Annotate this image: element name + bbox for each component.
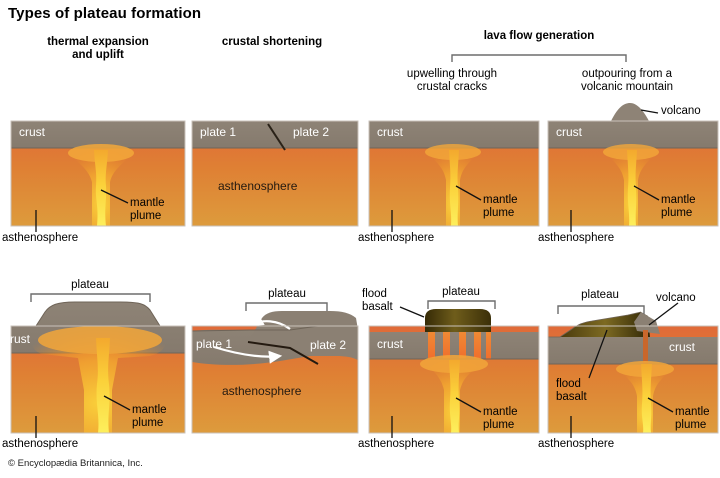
panel-4-label-mantle-plume: mantle plume <box>661 194 696 220</box>
panel-4-label-asthenosphere: asthenosphere <box>538 232 614 245</box>
panel-5-label-mantle-plume: mantle plume <box>132 404 167 430</box>
panel-4-label-volcano: volcano <box>661 105 701 118</box>
panel-3-label-asthenosphere: asthenosphere <box>358 232 434 245</box>
panel-2-label-asthenosphere: asthenosphere <box>218 180 297 193</box>
panel-5-label-plume: plume <box>132 417 167 430</box>
panel-3-label-plume: plume <box>483 207 518 220</box>
dike-4 <box>474 332 481 359</box>
panel-6-graphic <box>192 303 358 433</box>
panel-5-label-plateau: plateau <box>71 279 109 292</box>
panel-1-label-plume: plume <box>130 210 165 223</box>
dike-1 <box>428 332 435 359</box>
panel-7-label-plateau: plateau <box>442 286 480 299</box>
panel-7-label-flood: flood <box>362 288 393 301</box>
panel-4-label-crust: crust <box>556 126 582 139</box>
panel-4-label-mantle: mantle <box>661 194 696 207</box>
bracket-plateau-panel-6 <box>246 303 327 311</box>
panel-8-label-flood: flood <box>556 378 587 391</box>
panel-7-label-basalt: basalt <box>362 301 393 314</box>
bracket-plateau-panel-5 <box>31 294 150 302</box>
panel-6-label-asthenosphere: asthenosphere <box>222 385 301 398</box>
panel-8-label-plume: plume <box>675 419 710 432</box>
panel-8-label-flood-basalt: flood basalt <box>556 378 587 404</box>
panel-8-label-crust: crust <box>669 341 695 354</box>
panel-8-label-mantle-plume: mantle plume <box>675 406 710 432</box>
panel-6-label-plate1: plate 1 <box>196 338 232 351</box>
panel-1-label-mantle-plume: mantle plume <box>130 197 165 223</box>
panel-5-label-crust: crust <box>4 333 30 346</box>
panel-8-label-mantle: mantle <box>675 406 710 419</box>
panel-3-label-mantle: mantle <box>483 194 518 207</box>
panel-7-label-flood-basalt: flood basalt <box>362 288 393 314</box>
panel-4-label-plume: plume <box>661 207 696 220</box>
bracket-plateau-panel-7 <box>428 301 495 309</box>
volcano-cone-shape <box>611 103 649 121</box>
panel-6-label-plate2: plate 2 <box>310 339 346 352</box>
panel-2-label-plate2: plate 2 <box>293 126 329 139</box>
panel-7-label-crust: crust <box>377 338 403 351</box>
diagram-canvas: Types of plateau formation thermal expan… <box>0 0 720 478</box>
panel-3-label-crust: crust <box>377 126 403 139</box>
panel-1-label-crust: crust <box>19 126 45 139</box>
panel-7-label-asthenosphere: asthenosphere <box>358 438 434 451</box>
bracket-lava-flow-generation <box>452 55 626 62</box>
panel-7-label-mantle-plume: mantle plume <box>483 406 518 432</box>
dike-5 <box>486 332 491 359</box>
panel-8-label-plateau: plateau <box>581 289 619 302</box>
panel-3-label-mantle-plume: mantle plume <box>483 194 518 220</box>
dike-2 <box>443 332 450 359</box>
panel-7-label-mantle: mantle <box>483 406 518 419</box>
panel-1-label-mantle: mantle <box>130 197 165 210</box>
panel-5-label-asthenosphere: asthenosphere <box>2 438 78 451</box>
panel-8-label-asthenosphere: asthenosphere <box>538 438 614 451</box>
panel-8-label-basalt: basalt <box>556 391 587 404</box>
panel-1-label-asthenosphere: asthenosphere <box>2 232 78 245</box>
panel-5-label-mantle: mantle <box>132 404 167 417</box>
panel-6-label-plateau: plateau <box>268 288 306 301</box>
panel-7-label-plume: plume <box>483 419 518 432</box>
bracket-plateau-panel-8 <box>558 306 644 314</box>
panel-2-label-plate1: plate 1 <box>200 126 236 139</box>
panel-8-label-volcano: volcano <box>656 292 696 305</box>
dike-3 <box>459 332 466 359</box>
